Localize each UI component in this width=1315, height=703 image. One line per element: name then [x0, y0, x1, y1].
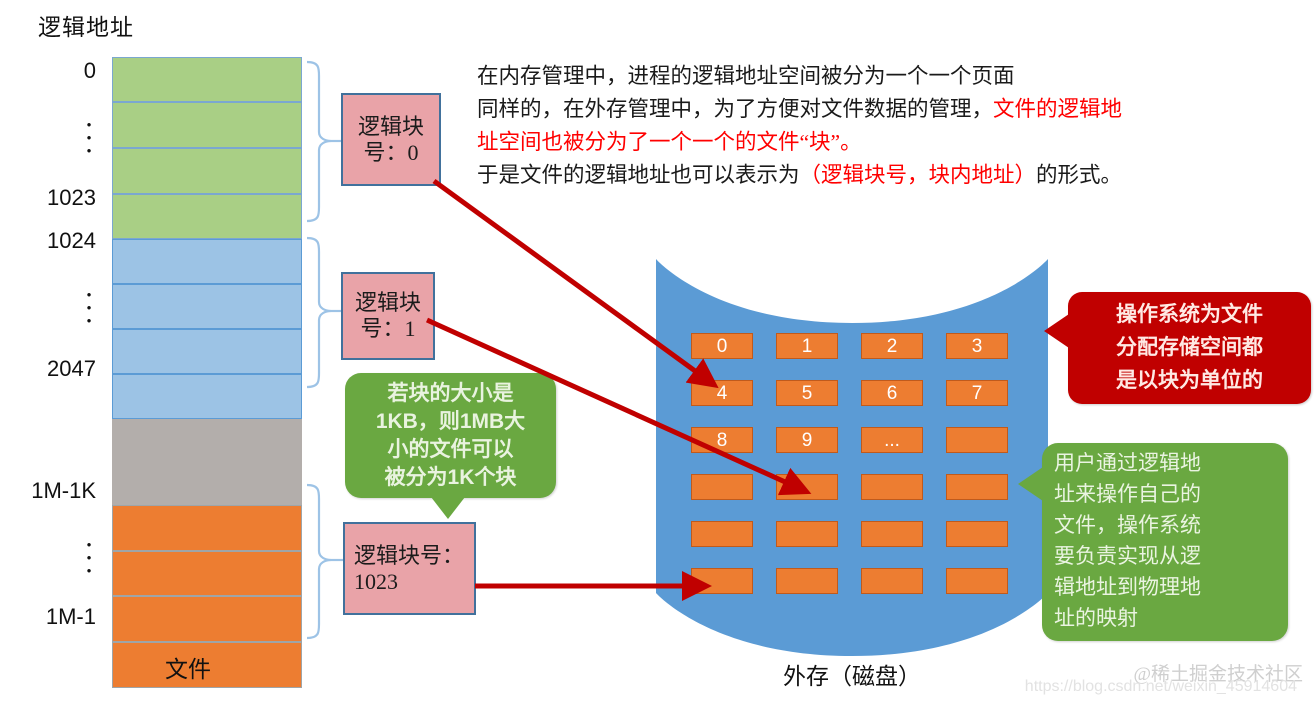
label-line-1: 逻辑块 — [355, 290, 421, 316]
note-line-4: 被分为1K个块 — [345, 464, 556, 492]
file-block-green-0 — [112, 57, 302, 102]
block-size-note: 若块的大小是 1KB，则1MB大 小的文件可以 被分为1K个块 — [345, 373, 556, 498]
disk-block-...: ... — [861, 427, 923, 453]
disk-block-r3c1 — [776, 474, 838, 500]
label-line-2: 号：1 — [360, 316, 415, 342]
file-block-blue-4 — [112, 239, 302, 284]
paragraph-line-1: 在内存管理中，进程的逻辑地址空间被分为一个一个页面 — [477, 60, 1307, 93]
paragraph-line-4-black-b: 的形式。 — [1036, 163, 1122, 187]
disk-block-r3c3 — [946, 474, 1008, 500]
disk-block-6: 6 — [861, 380, 923, 406]
note-line-1: 操作系统为文件 — [1068, 298, 1311, 331]
disk-block-r2c3 — [946, 427, 1008, 453]
disk-block-9: 9 — [776, 427, 838, 453]
file-block-green-1 — [112, 102, 302, 148]
disk-block-r4c3 — [946, 521, 1008, 547]
file-block-blue-6 — [112, 329, 302, 374]
label-line-2: 号：0 — [363, 140, 418, 166]
label-line-2: 1023 — [354, 569, 398, 595]
disk-block-r4c1 — [776, 521, 838, 547]
disk-block-grid: 0123456789... — [691, 333, 1009, 603]
file-block-blue-5 — [112, 284, 302, 329]
paragraph-line-2-red: 文件的逻辑地 — [993, 97, 1122, 121]
paragraph-line-2-black: 同样的，在外存管理中，为了方便对文件数据的管理， — [477, 97, 993, 121]
callout-tail — [431, 497, 465, 519]
note-line-3: 是以块为单位的 — [1068, 364, 1311, 397]
disk-block-4: 4 — [691, 380, 753, 406]
disk-caption: 外存（磁盘） — [783, 657, 921, 691]
label-line-1: 逻辑块号： — [354, 543, 464, 569]
disk-block-r3c0 — [691, 474, 753, 500]
paragraph-line-4-red: （逻辑块号，块内地址） — [800, 163, 1037, 187]
callout-tail — [1044, 314, 1069, 348]
disk-block-1: 1 — [776, 333, 838, 359]
disk-block-2: 2 — [861, 333, 923, 359]
disk-block-r3c2 — [861, 474, 923, 500]
brace-block-0 — [303, 58, 345, 225]
file-block-green-2 — [112, 148, 302, 194]
logical-block-label-1: 逻辑块 号：1 — [341, 272, 435, 360]
watermark-url: https://blog.csdn.net/weixin_45914604 — [1025, 678, 1297, 696]
address-label-0: 0 — [84, 58, 96, 84]
address-label-1M-1K: 1M-1K — [31, 478, 96, 504]
file-caption: 文件 — [165, 650, 211, 684]
note-line-4: 要负责实现从逻 — [1054, 541, 1288, 572]
note-line-1: 用户通过逻辑地 — [1054, 448, 1288, 479]
disk-block-r5c2 — [861, 568, 923, 594]
disk-block-r5c3 — [946, 568, 1008, 594]
callout-tail — [1018, 467, 1043, 501]
address-label-1M-1: 1M-1 — [46, 604, 96, 630]
file-block-gray-8 — [112, 419, 302, 505]
note-line-5: 辑地址到物理地 — [1054, 572, 1288, 603]
file-block-blue-7 — [112, 374, 302, 419]
disk-block-5: 5 — [776, 380, 838, 406]
file-block-green-3 — [112, 194, 302, 239]
paragraph-line-4: 于是文件的逻辑地址也可以表示为（逻辑块号，块内地址）的形式。 — [477, 159, 1307, 192]
disk-cylinder: 0123456789... — [652, 253, 1052, 660]
logical-block-label-1023: 逻辑块号： 1023 — [343, 522, 476, 615]
logical-to-physical-note: 用户通过逻辑地 址来操作自己的 文件，操作系统 要负责实现从逻 辑地址到物理地 … — [1042, 443, 1288, 641]
address-ellipsis-1: ••• — [78, 118, 100, 157]
disk-block-r5c0 — [691, 568, 753, 594]
disk-block-0: 0 — [691, 333, 753, 359]
disk-block-r5c1 — [776, 568, 838, 594]
file-block-orange-9 — [112, 505, 302, 551]
address-ellipsis-4: ••• — [78, 288, 100, 327]
address-label-1024: 1024 — [47, 228, 96, 254]
note-line-2: 1KB，则1MB大 — [345, 408, 556, 436]
file-block-orange-11 — [112, 596, 302, 642]
explanation-paragraph: 在内存管理中，进程的逻辑地址空间被分为一个一个页面 同样的，在外存管理中，为了方… — [477, 60, 1307, 192]
os-allocation-note: 操作系统为文件 分配存储空间都 是以块为单位的 — [1068, 292, 1311, 404]
address-ellipsis-7: ••• — [78, 538, 100, 577]
note-line-6: 址的映射 — [1054, 603, 1288, 634]
disk-block-8: 8 — [691, 427, 753, 453]
disk-block-r4c2 — [861, 521, 923, 547]
disk-block-7: 7 — [946, 380, 1008, 406]
brace-block-1 — [303, 234, 345, 391]
label-line-1: 逻辑块 — [358, 114, 424, 140]
address-label-2047: 2047 — [47, 356, 96, 382]
paragraph-line-2: 同样的，在外存管理中，为了方便对文件数据的管理，文件的逻辑地 — [477, 93, 1307, 126]
file-block-orange-10 — [112, 551, 302, 596]
address-label-1023: 1023 — [47, 185, 96, 211]
logical-block-label-0: 逻辑块 号：0 — [341, 93, 441, 186]
note-line-2: 分配存储空间都 — [1068, 331, 1311, 364]
brace-block-1023 — [303, 481, 347, 642]
note-line-1: 若块的大小是 — [345, 380, 556, 408]
disk-block-3: 3 — [946, 333, 1008, 359]
note-line-3: 小的文件可以 — [345, 436, 556, 464]
note-line-2: 址来操作自己的 — [1054, 479, 1288, 510]
disk-block-r4c0 — [691, 521, 753, 547]
address-label-column: 0•••10231024•••20471M-1K•••1M-1 — [0, 0, 104, 650]
paragraph-line-3: 址空间也被分为了一个一个的文件“块”。 — [477, 126, 1307, 159]
note-line-3: 文件，操作系统 — [1054, 510, 1288, 541]
file-logical-address-column — [112, 57, 302, 642]
paragraph-line-4-black-a: 于是文件的逻辑地址也可以表示为 — [477, 163, 800, 187]
